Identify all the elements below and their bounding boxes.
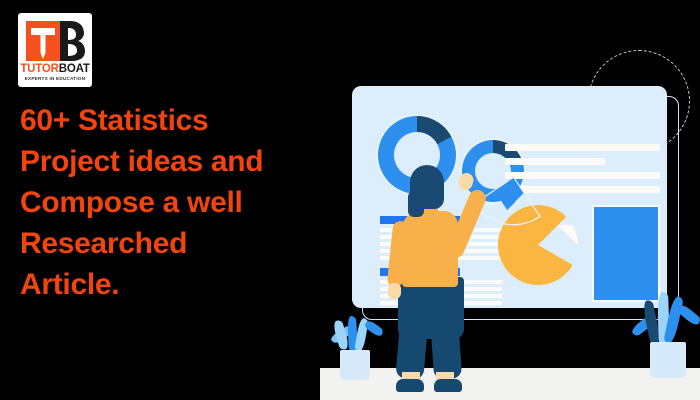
text-placeholder-line (505, 172, 660, 179)
tutorboat-logo[interactable]: TUTORBOAT EXPERTS IN EDUCATION (18, 13, 92, 87)
logo-tagline: EXPERTS IN EDUCATION (18, 76, 92, 81)
plant-right (630, 292, 700, 378)
logo-mark-icon (18, 19, 92, 63)
text-placeholder-line (505, 158, 605, 165)
logo-wordmark-primary: TUTOR (20, 63, 58, 75)
shoe-left (396, 379, 424, 392)
promo-banner: TUTORBOAT EXPERTS IN EDUCATION 60+ Stati… (0, 0, 700, 400)
hand-lowered (388, 283, 401, 299)
text-placeholder-line (505, 186, 660, 193)
shoe-right (434, 379, 462, 392)
plant-pot (650, 342, 686, 378)
hair (410, 165, 444, 209)
hand-raised (457, 171, 476, 191)
plant-left (328, 316, 388, 378)
text-placeholder-line (505, 144, 660, 151)
logo-wordmark: TUTORBOAT (18, 63, 92, 75)
bar-block (592, 205, 660, 302)
illustration (300, 0, 700, 400)
logo-wordmark-secondary: BOAT (59, 63, 90, 75)
plant-pot (340, 350, 370, 380)
plant-leaf (363, 319, 384, 338)
